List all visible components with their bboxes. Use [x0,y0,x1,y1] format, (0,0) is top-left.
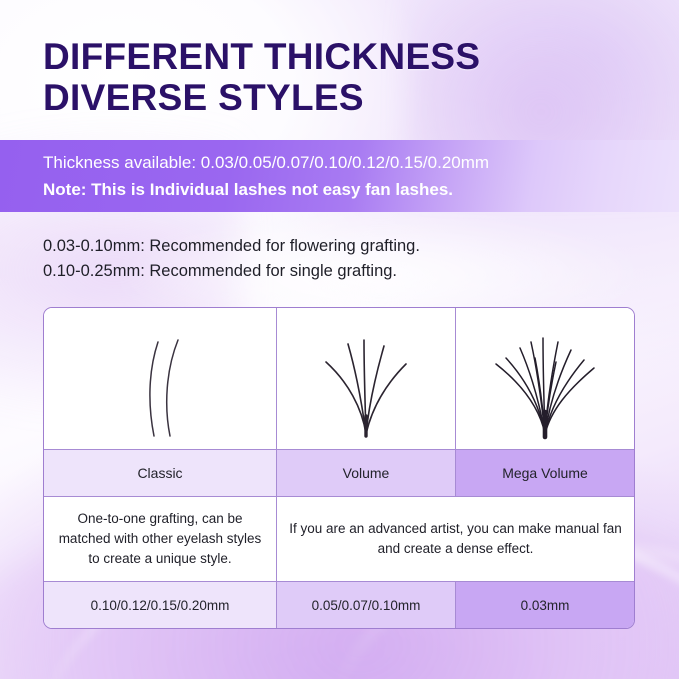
page-title-line-1: DIFFERENT THICKNESS [43,36,643,77]
mega-volume-fan-icon [456,308,634,449]
cell-description-volume-mega: If you are an advanced artist, you can m… [277,497,634,582]
table-row-descriptions: One-to-one grafting, can be matched with… [44,497,634,582]
cell-illustration-volume [277,308,456,450]
cell-thickness-classic: 0.10/0.12/0.15/0.20mm [44,582,277,628]
style-label-classic: Classic [137,465,182,481]
cell-thickness-mega-volume: 0.03mm [456,582,634,628]
cell-label-volume: Volume [277,450,456,497]
cell-thickness-volume: 0.05/0.07/0.10mm [277,582,456,628]
thickness-value-classic: 0.10/0.12/0.15/0.20mm [91,598,230,613]
cell-label-classic: Classic [44,450,277,497]
cell-description-classic: One-to-one grafting, can be matched with… [44,497,277,582]
cell-illustration-mega-volume [456,308,634,450]
lash-style-comparison-table: Classic Volume Mega Volume One-to-one gr… [43,307,635,629]
table-row-style-labels: Classic Volume Mega Volume [44,450,634,497]
product-infographic: DIFFERENT THICKNESS DIVERSE STYLES Thick… [0,0,679,679]
note-flowering-grafting: 0.03-0.10mm: Recommended for flowering g… [43,234,643,259]
style-label-mega-volume: Mega Volume [502,465,588,481]
thickness-banner: Thickness available: 0.03/0.05/0.07/0.10… [0,140,679,212]
thickness-value-volume: 0.05/0.07/0.10mm [312,598,421,613]
volume-fan-icon [277,308,455,449]
page-title-line-2: DIVERSE STYLES [43,77,643,118]
table-row-thickness: 0.10/0.12/0.15/0.20mm 0.05/0.07/0.10mm 0… [44,582,634,628]
banner-note: Note: This is Individual lashes not easy… [43,176,679,203]
style-label-volume: Volume [343,465,390,481]
cell-label-mega-volume: Mega Volume [456,450,634,497]
classic-lash-icon [44,308,276,449]
page-title: DIFFERENT THICKNESS DIVERSE STYLES [43,36,643,118]
table-row-illustrations [44,308,634,450]
note-single-grafting: 0.10-0.25mm: Recommended for single graf… [43,259,643,284]
recommendation-notes: 0.03-0.10mm: Recommended for flowering g… [43,234,643,284]
cell-illustration-classic [44,308,277,450]
banner-thickness-available: Thickness available: 0.03/0.05/0.07/0.10… [43,149,679,176]
thickness-value-mega-volume: 0.03mm [521,598,570,613]
